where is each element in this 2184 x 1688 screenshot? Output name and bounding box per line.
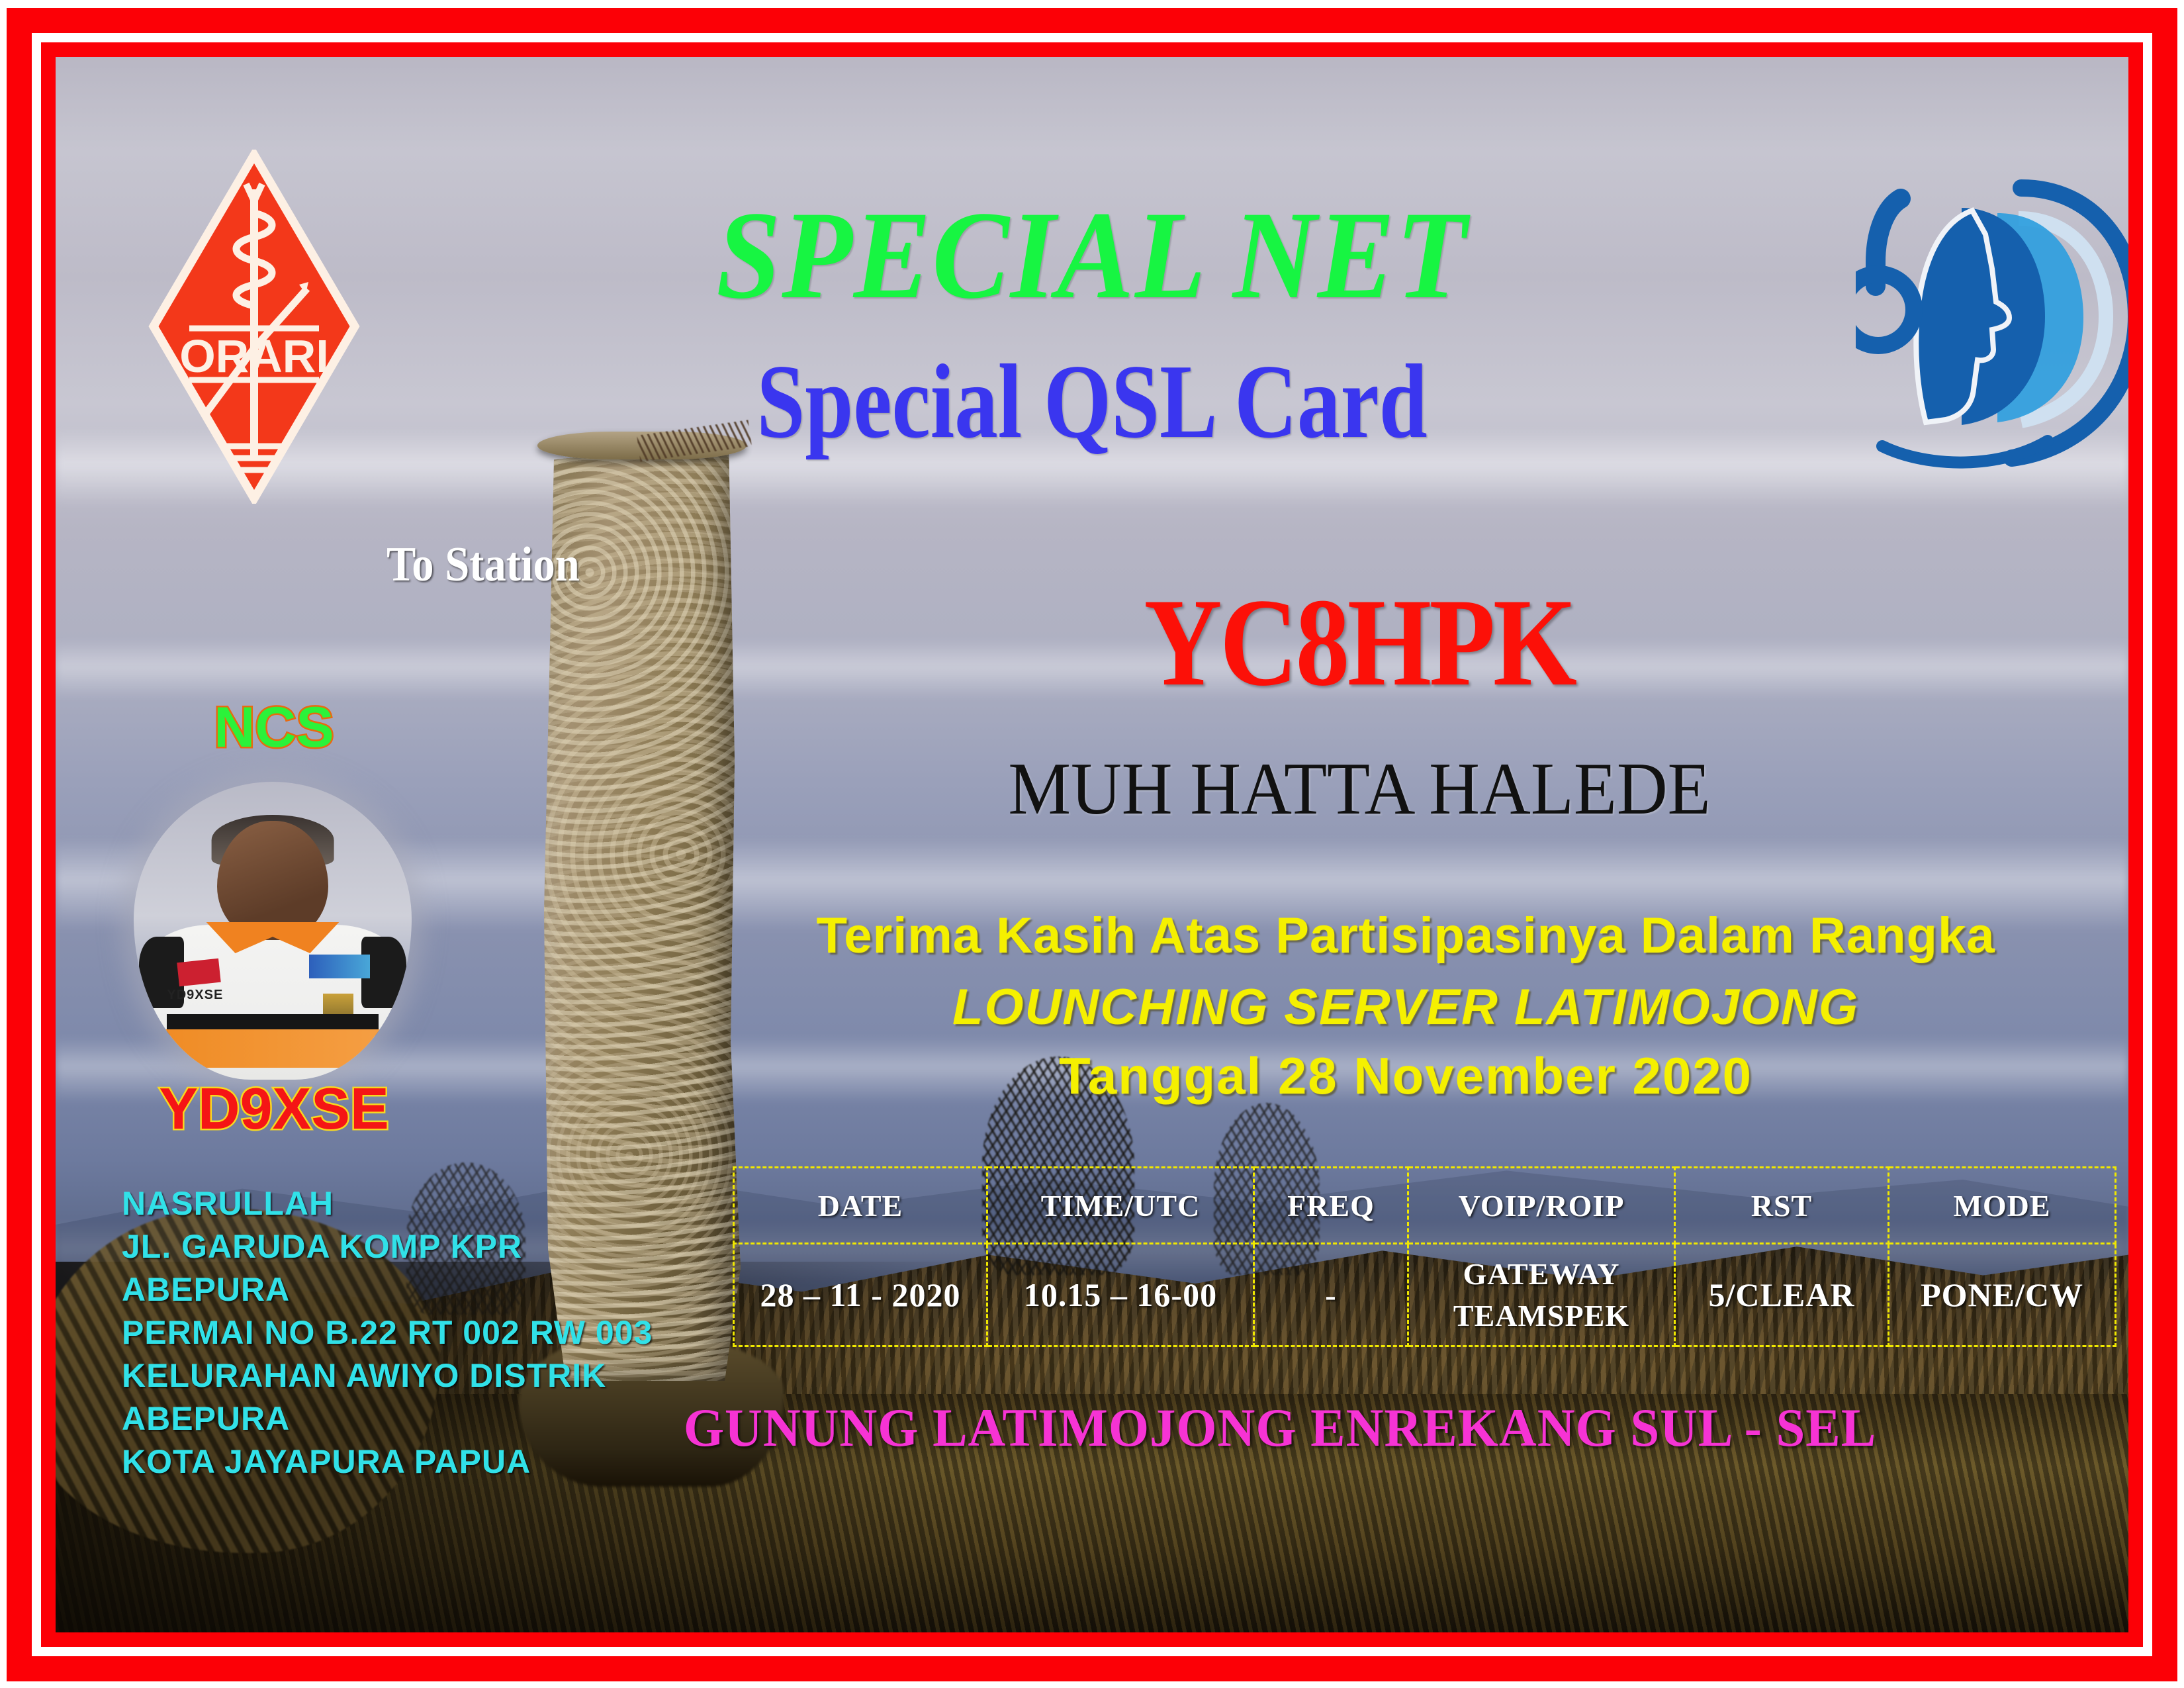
- table-header-mode: MODE: [1889, 1168, 2116, 1244]
- ncs-label: NCS: [135, 699, 413, 756]
- qso-log-table: DATE TIME/UTC FREQ VOIP/ROIP RST MODE 28…: [733, 1166, 2116, 1347]
- address-line: JL. GARUDA KOMP KPR: [122, 1225, 704, 1268]
- address-line: KELURAHAN AWIYO DISTRIK: [122, 1354, 704, 1397]
- cell-voip: GATEWAY TEAMSPEK: [1408, 1244, 1675, 1346]
- address-line: PERMAI NO B.22 RT 002 RW 003: [122, 1311, 704, 1354]
- cell-rst: 5/CLEAR: [1675, 1244, 1889, 1346]
- table-header-time: TIME/UTC: [987, 1168, 1254, 1244]
- station-callsign: YC8HPK: [1001, 580, 1718, 706]
- table-header-date: DATE: [734, 1168, 987, 1244]
- photo-patch-right: [309, 955, 370, 978]
- photo-callsign-embroidery: YD9XSE: [167, 988, 223, 1003]
- address-line: NASRULLAH: [122, 1182, 704, 1225]
- cell-freq: -: [1254, 1244, 1408, 1346]
- table-header-rst: RST: [1675, 1168, 1889, 1244]
- qsl-card: ORARI SPECIAL NET Special QSL Card To St…: [0, 0, 2184, 1688]
- cell-time: 10.15 – 16-00: [987, 1244, 1254, 1346]
- table-header-freq: FREQ: [1254, 1168, 1408, 1244]
- cell-voip-line1: GATEWAY: [1409, 1253, 1674, 1295]
- page-title: SPECIAL NET: [138, 193, 2045, 318]
- table-row: 28 – 11 - 2020 10.15 – 16-00 - GATEWAY T…: [734, 1244, 2116, 1346]
- address-block: NASRULLAH JL. GARUDA KOMP KPR ABEPURA PE…: [122, 1182, 704, 1483]
- photo-sash: [145, 1029, 400, 1068]
- ncs-callsign: YD9XSE: [122, 1080, 426, 1138]
- thanks-line: Terima Kasih Atas Partisipasinya Dalam R…: [731, 911, 2081, 961]
- to-station-label: To Station: [387, 540, 580, 589]
- cell-voip-line2: TEAMSPEK: [1409, 1295, 1674, 1336]
- event-date: Tanggal 28 November 2020: [731, 1050, 2081, 1102]
- photo-patch-left: [177, 959, 220, 986]
- table-header-row: DATE TIME/UTC FREQ VOIP/ROIP RST MODE: [734, 1168, 2116, 1244]
- ncs-operator-photo: YD9XSE: [134, 782, 412, 1080]
- address-line: ABEPURA: [122, 1268, 704, 1311]
- location-line: GUNUNG LATIMOJONG ENREKANG SUL - SEL: [676, 1401, 1884, 1455]
- event-title: LOUNCHING SERVER LATIMOJONG: [731, 982, 2081, 1033]
- page-subtitle: Special QSL Card: [242, 348, 1942, 454]
- cell-date: 28 – 11 - 2020: [734, 1244, 987, 1346]
- table-header-voip: VOIP/ROIP: [1408, 1168, 1675, 1244]
- cell-mode: PONE/CW: [1889, 1244, 2116, 1346]
- operator-name: MUH HATTA HALEDE: [825, 752, 1894, 826]
- background-photo: ORARI SPECIAL NET Special QSL Card To St…: [56, 57, 2128, 1632]
- address-line: ABEPURA: [122, 1397, 704, 1440]
- address-line: KOTA JAYAPURA PAPUA: [122, 1440, 704, 1483]
